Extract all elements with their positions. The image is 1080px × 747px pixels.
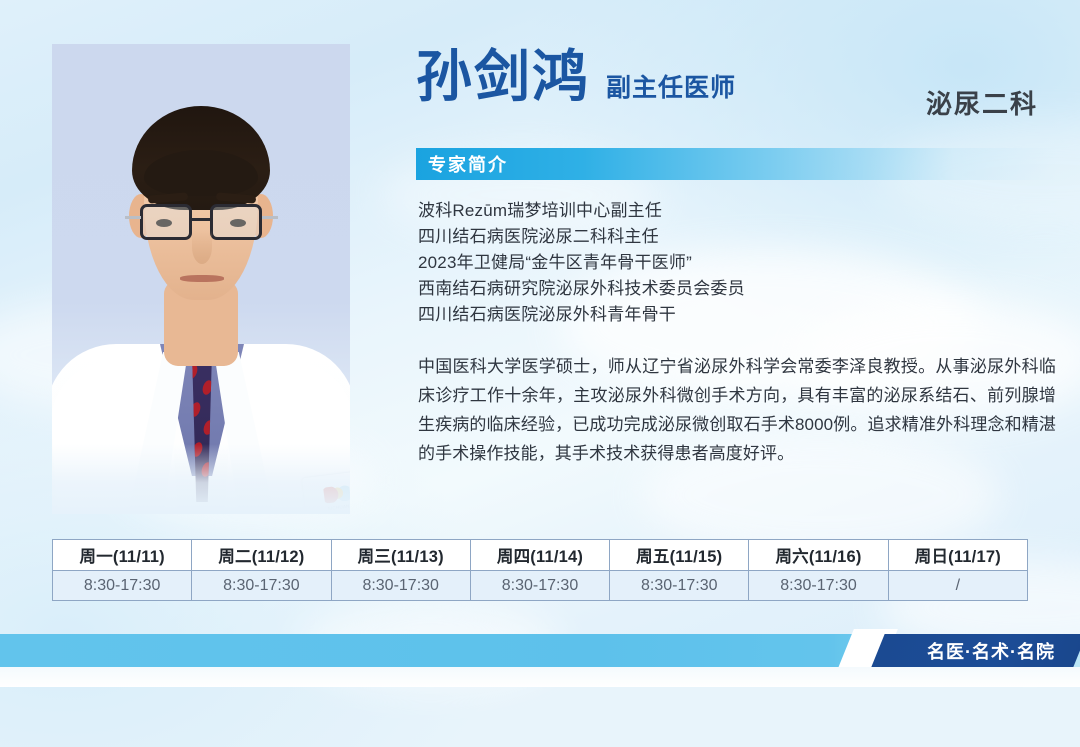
biography-paragraph: 中国医科大学医学硕士，师从辽宁省泌尿外科学会常委李泽良教授。从事泌尿外科临床诊疗… — [418, 352, 1056, 468]
section-header-label: 专家简介 — [428, 151, 508, 177]
schedule-day-header: 周四(11/14) — [470, 540, 609, 571]
schedule-hours-cell: 8:30-17:30 — [749, 571, 888, 601]
schedule-day-header: 周六(11/16) — [749, 540, 888, 571]
footer-bottom-strip — [0, 667, 1080, 687]
credential-item: 波科Rezūm瑞梦培训中心副主任 — [418, 198, 1068, 224]
footer-slogan: 名医·名术·名院 — [902, 634, 1080, 667]
doctor-name: 孙剑鸿 — [416, 50, 590, 106]
credential-item: 四川结石病医院泌尿外科青年骨干 — [418, 302, 1068, 328]
schedule-hours-cell: 8:30-17:30 — [470, 571, 609, 601]
schedule-hours-cell: / — [888, 571, 1027, 601]
schedule-hours-cell: 8:30-17:30 — [331, 571, 470, 601]
schedule-day-header: 周三(11/13) — [331, 540, 470, 571]
footer-banner: 名医·名术·名院 — [0, 617, 1080, 687]
schedule-hours-cell: 8:30-17:30 — [53, 571, 192, 601]
credential-item: 西南结石病研究院泌尿外科技术委员会委员 — [418, 276, 1068, 302]
schedule-day-header: 周五(11/15) — [610, 540, 749, 571]
schedule-hours-cell: 8:30-17:30 — [192, 571, 331, 601]
doctor-photo: SICHUAN LITHIASIS HOSPITAL 四川结石病医院 — [52, 44, 350, 514]
schedule-header-row: 周一(11/11) 周二(11/12) 周三(11/13) 周四(11/14) … — [53, 540, 1028, 571]
credentials-list: 波科Rezūm瑞梦培训中心副主任 四川结石病医院泌尿二科科主任 2023年卫健局… — [418, 198, 1068, 328]
photo-bottom-fade — [52, 444, 350, 514]
doctor-department: 泌尿二科 — [926, 84, 1038, 121]
schedule-day-header: 周二(11/12) — [192, 540, 331, 571]
schedule-day-header: 周一(11/11) — [53, 540, 192, 571]
mouth — [180, 275, 224, 282]
credential-item: 2023年卫健局“金牛区青年骨干医师” — [418, 250, 1068, 276]
schedule-hours-cell: 8:30-17:30 — [610, 571, 749, 601]
nose — [192, 230, 212, 264]
doctor-title: 副主任医师 — [606, 68, 736, 104]
section-header-bar: 专家简介 — [416, 148, 1056, 180]
doctor-name-row: 孙剑鸿 副主任医师 — [416, 50, 736, 106]
schedule-hours-row: 8:30-17:30 8:30-17:30 8:30-17:30 8:30-17… — [53, 571, 1028, 601]
credential-item: 四川结石病医院泌尿二科科主任 — [418, 224, 1068, 250]
schedule-table: 周一(11/11) 周二(11/12) 周三(11/13) 周四(11/14) … — [52, 539, 1028, 601]
schedule-day-header: 周日(11/17) — [888, 540, 1027, 571]
